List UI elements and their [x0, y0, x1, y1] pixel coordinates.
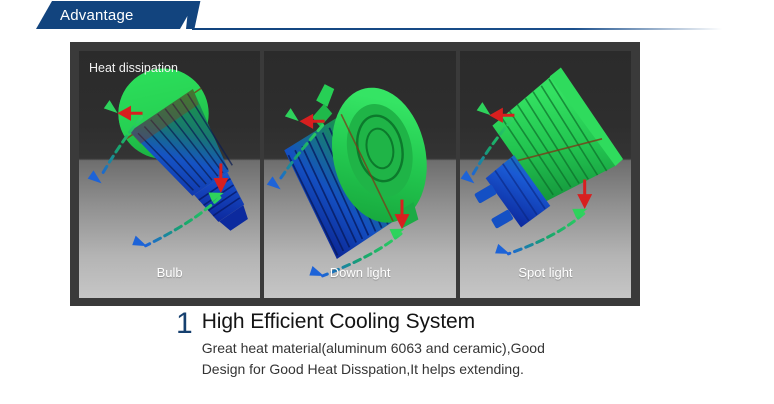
panel-caption-spotlight: Spot light [460, 264, 631, 281]
banner-title: Advantage [60, 5, 200, 27]
feature-number: 1 [176, 309, 193, 338]
panel-bulb: Heat dissipation [79, 51, 260, 298]
panel-downlight: Down light [264, 51, 456, 298]
panel-caption-bulb: Bulb [79, 264, 260, 281]
heat-out-arrow-bottom [580, 180, 590, 206]
heat-dissipation-label: Heat dissipation [89, 60, 178, 76]
section-banner: Advantage [0, 0, 774, 36]
feature-caption: 1 High Efficient Cooling System Great he… [176, 309, 736, 380]
panel-spotlight: Spot light [460, 51, 631, 298]
led-spotlight-thermal-icon [460, 51, 631, 298]
feature-description-line-2: Design for Good Heat Disspation,It helps… [202, 359, 545, 380]
advantage-slide: Advantage Heat dissipation [0, 0, 774, 404]
panel-caption-downlight: Down light [264, 264, 456, 281]
thermal-figure: Heat dissipation [70, 42, 640, 306]
led-bulb-thermal-icon [79, 51, 260, 298]
banner-underline-rule [192, 28, 722, 30]
feature-heading: High Efficient Cooling System [202, 309, 545, 335]
led-downlight-thermal-icon [264, 51, 456, 298]
feature-description-line-1: Great heat material(aluminum 6063 and ce… [202, 338, 545, 359]
